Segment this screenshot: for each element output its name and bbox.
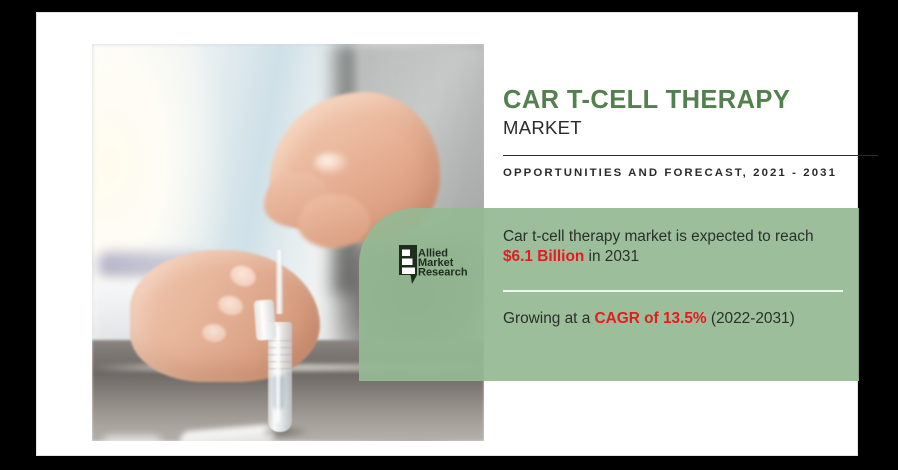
statement-1-before: Car t-cell therapy market is expected to… bbox=[503, 228, 814, 245]
statement-cagr: Growing at a CAGR of 13.5% (2022-2031) bbox=[503, 309, 833, 329]
photo-pipette bbox=[276, 250, 283, 314]
heading-divider bbox=[503, 155, 878, 156]
photo-finger bbox=[298, 194, 370, 248]
infographic-card: Allied Market Research CAR T-CELL THERAP… bbox=[36, 12, 858, 456]
forecast-label: OPPORTUNITIES AND FORECAST, 2021 - 2031 bbox=[503, 165, 873, 183]
statement-2-before: Growing at a bbox=[503, 310, 595, 327]
logo-bar-3 bbox=[402, 268, 415, 275]
statement-2-highlight: CAGR of 13.5% bbox=[595, 310, 707, 327]
photo-desk-item bbox=[102, 436, 162, 441]
logo-bar-2 bbox=[402, 259, 413, 266]
panel-divider bbox=[503, 290, 843, 292]
logo-line-3: Research bbox=[418, 267, 468, 279]
infographic-stage: Allied Market Research CAR T-CELL THERAP… bbox=[0, 0, 898, 470]
allied-market-research-logo: Allied Market Research bbox=[399, 245, 477, 289]
photo-knuckle-highlight bbox=[314, 152, 348, 174]
statement-market-value: Car t-cell therapy market is expected to… bbox=[503, 227, 843, 268]
photo-test-tube-highlight bbox=[276, 326, 280, 422]
logo-icon: Allied Market Research bbox=[399, 245, 477, 289]
page-title: CAR T-CELL THERAPY bbox=[503, 87, 879, 114]
logo-bar-1 bbox=[402, 250, 410, 257]
photo-test-tube-cap bbox=[254, 299, 277, 340]
statement-1-highlight: $6.1 Billion bbox=[503, 248, 584, 265]
photo-test-tube-graduations bbox=[268, 340, 292, 374]
statement-2-after: (2022-2031) bbox=[707, 310, 795, 327]
statement-1-after: in 2031 bbox=[584, 248, 639, 265]
heading-block: CAR T-CELL THERAPY MARKET bbox=[503, 87, 879, 138]
page-subtitle: MARKET bbox=[503, 118, 879, 138]
